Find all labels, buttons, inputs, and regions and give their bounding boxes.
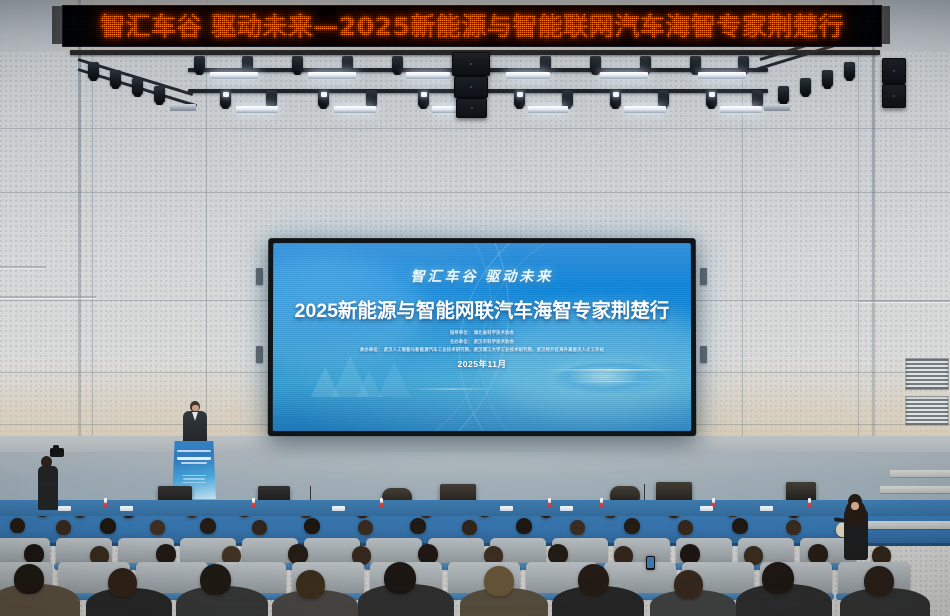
screen-title: 2025新能源与智能网联汽车海智专家荆楚行 <box>273 294 691 323</box>
name-placard <box>500 506 513 511</box>
audience-head <box>864 566 894 596</box>
hanging-speaker <box>454 76 488 98</box>
presenter-at-podium <box>183 401 207 445</box>
led-bar-light <box>528 106 568 113</box>
moving-head-light <box>610 90 621 107</box>
audience-head <box>200 518 216 534</box>
led-bar-light <box>764 104 790 111</box>
screen-mount-bracket <box>700 268 707 285</box>
moving-head-light <box>706 90 717 107</box>
moving-head-light <box>88 62 99 79</box>
audience-head <box>624 518 640 534</box>
podium-banner-title <box>177 457 210 460</box>
led-bar-light <box>506 72 550 79</box>
audience-head <box>14 564 44 594</box>
panel-seam <box>0 128 950 129</box>
audience-head <box>100 518 116 534</box>
hanging-speaker <box>882 84 906 108</box>
water-bottle <box>252 498 255 507</box>
hanging-speaker <box>882 58 906 84</box>
moving-head-light <box>266 90 277 107</box>
audience-head <box>516 518 532 534</box>
water-bottle <box>104 498 107 507</box>
moving-head-light <box>514 90 525 107</box>
speed-streak <box>557 381 666 383</box>
presenter-face <box>192 405 199 411</box>
panel-seam <box>0 192 950 193</box>
podium-banner-subtitle <box>181 462 207 464</box>
moving-head-light <box>540 56 551 73</box>
hvac-vent-grille <box>905 396 949 426</box>
conference-hall-photo: 智汇车谷 驱动未来—2025新能源与智能联网汽车海智专家荆楚行 <box>0 0 950 616</box>
moving-head-light <box>800 78 811 95</box>
audience-head <box>10 518 25 533</box>
water-bottle <box>600 498 603 507</box>
screen-mount-bracket <box>256 268 263 285</box>
audience-head <box>678 520 693 535</box>
name-placard <box>332 506 345 511</box>
moving-head-light <box>822 70 833 87</box>
moving-head-light <box>418 90 429 107</box>
name-placard <box>700 506 713 511</box>
water-bottle <box>808 498 811 507</box>
moving-head-light <box>366 90 377 107</box>
led-bar-light <box>210 72 258 79</box>
seated-audience <box>0 498 950 616</box>
photographer-left-aisle <box>34 448 64 510</box>
audience-head <box>570 520 585 535</box>
audience-head <box>384 562 416 594</box>
led-bar-light <box>600 72 648 79</box>
moving-head-light <box>342 56 353 73</box>
screen-slogan: 智汇车谷 驱动未来 <box>273 266 691 286</box>
name-placard <box>560 506 573 511</box>
moving-head-light <box>392 56 403 73</box>
screen-date: 2025年11月 <box>273 358 691 370</box>
audience-head <box>786 520 801 535</box>
moving-head-light <box>220 90 231 107</box>
led-bar-light <box>334 106 376 113</box>
ticker-bracket-left <box>52 6 62 44</box>
camera-viewfinder <box>53 445 59 449</box>
hvac-vent-grille <box>905 358 949 390</box>
phone-screen <box>647 557 654 568</box>
audience-head <box>484 566 514 596</box>
screen-mount-bracket <box>700 346 707 363</box>
moving-head-light <box>154 86 165 103</box>
wall-ledge <box>0 266 46 268</box>
audience-head <box>548 544 568 564</box>
moving-head-light <box>590 56 601 73</box>
moving-head-light <box>110 70 121 87</box>
led-bar-light <box>236 106 278 113</box>
audience-head <box>762 562 794 594</box>
aisle-step <box>880 486 950 493</box>
led-screen-surface: 智汇车谷 驱动未来 2025新能源与智能网联汽车海智专家荆楚行 指导单位： 湖北… <box>273 243 691 431</box>
led-ticker-text: 智汇车谷 驱动未来—2025新能源与智能联网汽车海智专家荆楚行 <box>100 14 844 39</box>
moving-head-light <box>690 56 701 73</box>
wall-ledge <box>0 296 96 298</box>
moving-head-light <box>194 56 205 73</box>
screen-credit-line: 主办单位： 武汉市科学技术协会 <box>273 338 691 346</box>
audience-head <box>304 518 320 534</box>
led-bar-light <box>406 72 450 79</box>
audience-head <box>252 520 267 535</box>
attendee-face <box>851 502 859 510</box>
podium-banner-slogan <box>177 450 210 452</box>
led-bar-light <box>308 72 356 79</box>
podium-banner-credit <box>182 475 207 477</box>
moving-head-light <box>752 90 763 107</box>
led-bar-light <box>698 72 746 79</box>
standing-attendee-right-aisle <box>840 488 874 560</box>
water-bottle <box>380 498 383 507</box>
podium-banner-credit <box>183 478 206 480</box>
water-bottle <box>548 498 551 507</box>
hanging-speaker <box>452 52 490 76</box>
led-bar-light <box>170 104 196 111</box>
audience-head <box>156 544 176 564</box>
led-bar-light <box>720 106 762 113</box>
led-bar-light <box>624 106 666 113</box>
moving-head-light <box>562 90 573 107</box>
aisle-step <box>890 470 950 477</box>
screen-credits: 指导单位： 湖北省科学技术协会 主办单位： 武汉市科学技术协会 承办单位： 武汉… <box>273 329 691 353</box>
audience-head <box>24 544 44 564</box>
moving-head-light <box>658 90 669 107</box>
screen-credit-line: 承办单位： 武汉人工智能与新能源汽车工业技术研究院、武汉理工大学工业技术研究院、… <box>273 346 691 354</box>
audience-head <box>56 520 71 535</box>
audience-head <box>808 544 828 564</box>
wall-ledge <box>858 300 950 302</box>
hanging-speaker <box>456 98 487 118</box>
speed-streak <box>407 388 499 390</box>
moving-head-light <box>318 90 329 107</box>
audience-head <box>150 520 165 535</box>
audience-head <box>200 564 231 595</box>
audience-head <box>108 568 137 597</box>
audience-head <box>732 518 748 534</box>
audience-head <box>674 570 703 599</box>
moving-head-light <box>640 56 651 73</box>
name-placard <box>760 506 773 511</box>
camera <box>50 448 64 457</box>
audience-head <box>288 544 308 564</box>
audience-head <box>578 564 609 595</box>
moving-head-light <box>844 62 855 79</box>
audience-head <box>680 544 700 564</box>
audience-head <box>462 520 477 535</box>
audience-head <box>410 518 426 534</box>
main-led-screen: 智汇车谷 驱动未来 2025新能源与智能网联汽车海智专家荆楚行 指导单位： 湖北… <box>268 238 696 436</box>
screen-credit-line: 指导单位： 湖北省科学技术协会 <box>273 329 691 337</box>
moving-head-light <box>738 56 749 73</box>
moving-head-light <box>778 86 789 103</box>
screen-mount-bracket <box>256 346 263 363</box>
podium-banner-credit <box>182 482 207 484</box>
audience-head <box>358 520 373 535</box>
moving-head-light <box>292 56 303 73</box>
audience-head <box>418 544 438 564</box>
name-placard <box>120 506 133 511</box>
moving-head-light <box>132 78 143 95</box>
moving-head-light <box>242 56 253 73</box>
overhead-led-ticker: 智汇车谷 驱动未来—2025新能源与智能联网汽车海智专家荆楚行 <box>62 5 882 47</box>
audience-head <box>296 570 325 599</box>
